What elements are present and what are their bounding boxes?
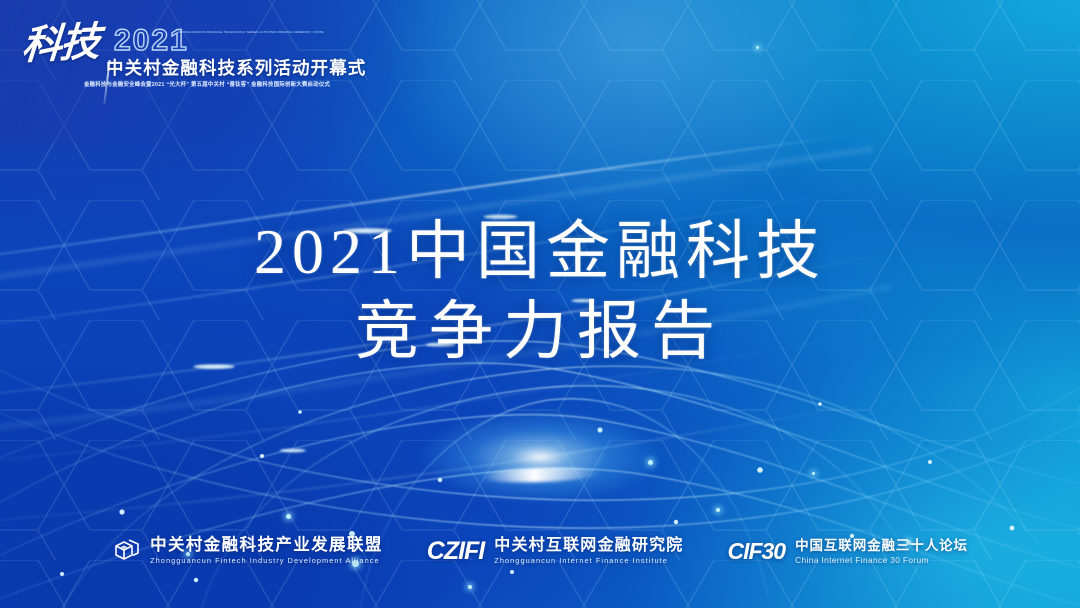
poster-title: 2021中国金融科技 竞争力报告: [0, 212, 1080, 372]
logo-cif30: CIF30 中国互联网金融三十人论坛 China Internet Financ…: [727, 536, 967, 566]
banner-main-line: 中关村金融科技系列活动开幕式: [106, 58, 366, 78]
title-line-1: 2021中国金融科技: [0, 212, 1080, 292]
logo-cn-name: 中关村互联网金融研究院: [494, 536, 683, 555]
logo-en-name: Zhongguancun Internet Finance Institute: [494, 555, 683, 566]
logo-cn-name: 中国互联网金融三十人论坛: [795, 536, 968, 555]
cif30-wordmark-icon: CIF30: [727, 539, 785, 564]
czifi-wordmark-icon: CZIFI: [427, 539, 485, 564]
calligraphy-logo: 科技: [20, 22, 99, 66]
logo-czifi: CZIFI 中关村互联网金融研究院 Zhongguancun Internet …: [427, 536, 684, 566]
poster-canvas: 科技 2021 ZHONGGUANCUN FINANCIAL TECHNOLOG…: [0, 0, 1080, 608]
cube-logo-icon: [112, 537, 142, 565]
logo-en-name: China Internet Finance 30 Forum: [795, 555, 968, 566]
banner-english-lines: ZHONGGUANCUN FINANCIAL TECHNOLOGY SERIES…: [178, 30, 324, 35]
logo-en-name: Zhongguancun Fintech Industry Developmen…: [150, 555, 383, 566]
banner-sub-line: 金融科技与金融安全峰会暨2021 “光大杯” 第五届中关村 “番钛客” 金融科技…: [84, 81, 330, 89]
title-line-2: 竞争力报告: [0, 292, 1080, 372]
event-banner: 科技 2021 ZHONGGUANCUN FINANCIAL TECHNOLOG…: [22, 22, 322, 104]
logo-cn-name: 中关村金融科技产业发展联盟: [150, 536, 383, 555]
sponsor-logo-bar: 中关村金融科技产业发展联盟 Zhongguancun Fintech Indus…: [0, 536, 1080, 566]
logo-zgc-fintech-alliance: 中关村金融科技产业发展联盟 Zhongguancun Fintech Indus…: [112, 536, 383, 566]
